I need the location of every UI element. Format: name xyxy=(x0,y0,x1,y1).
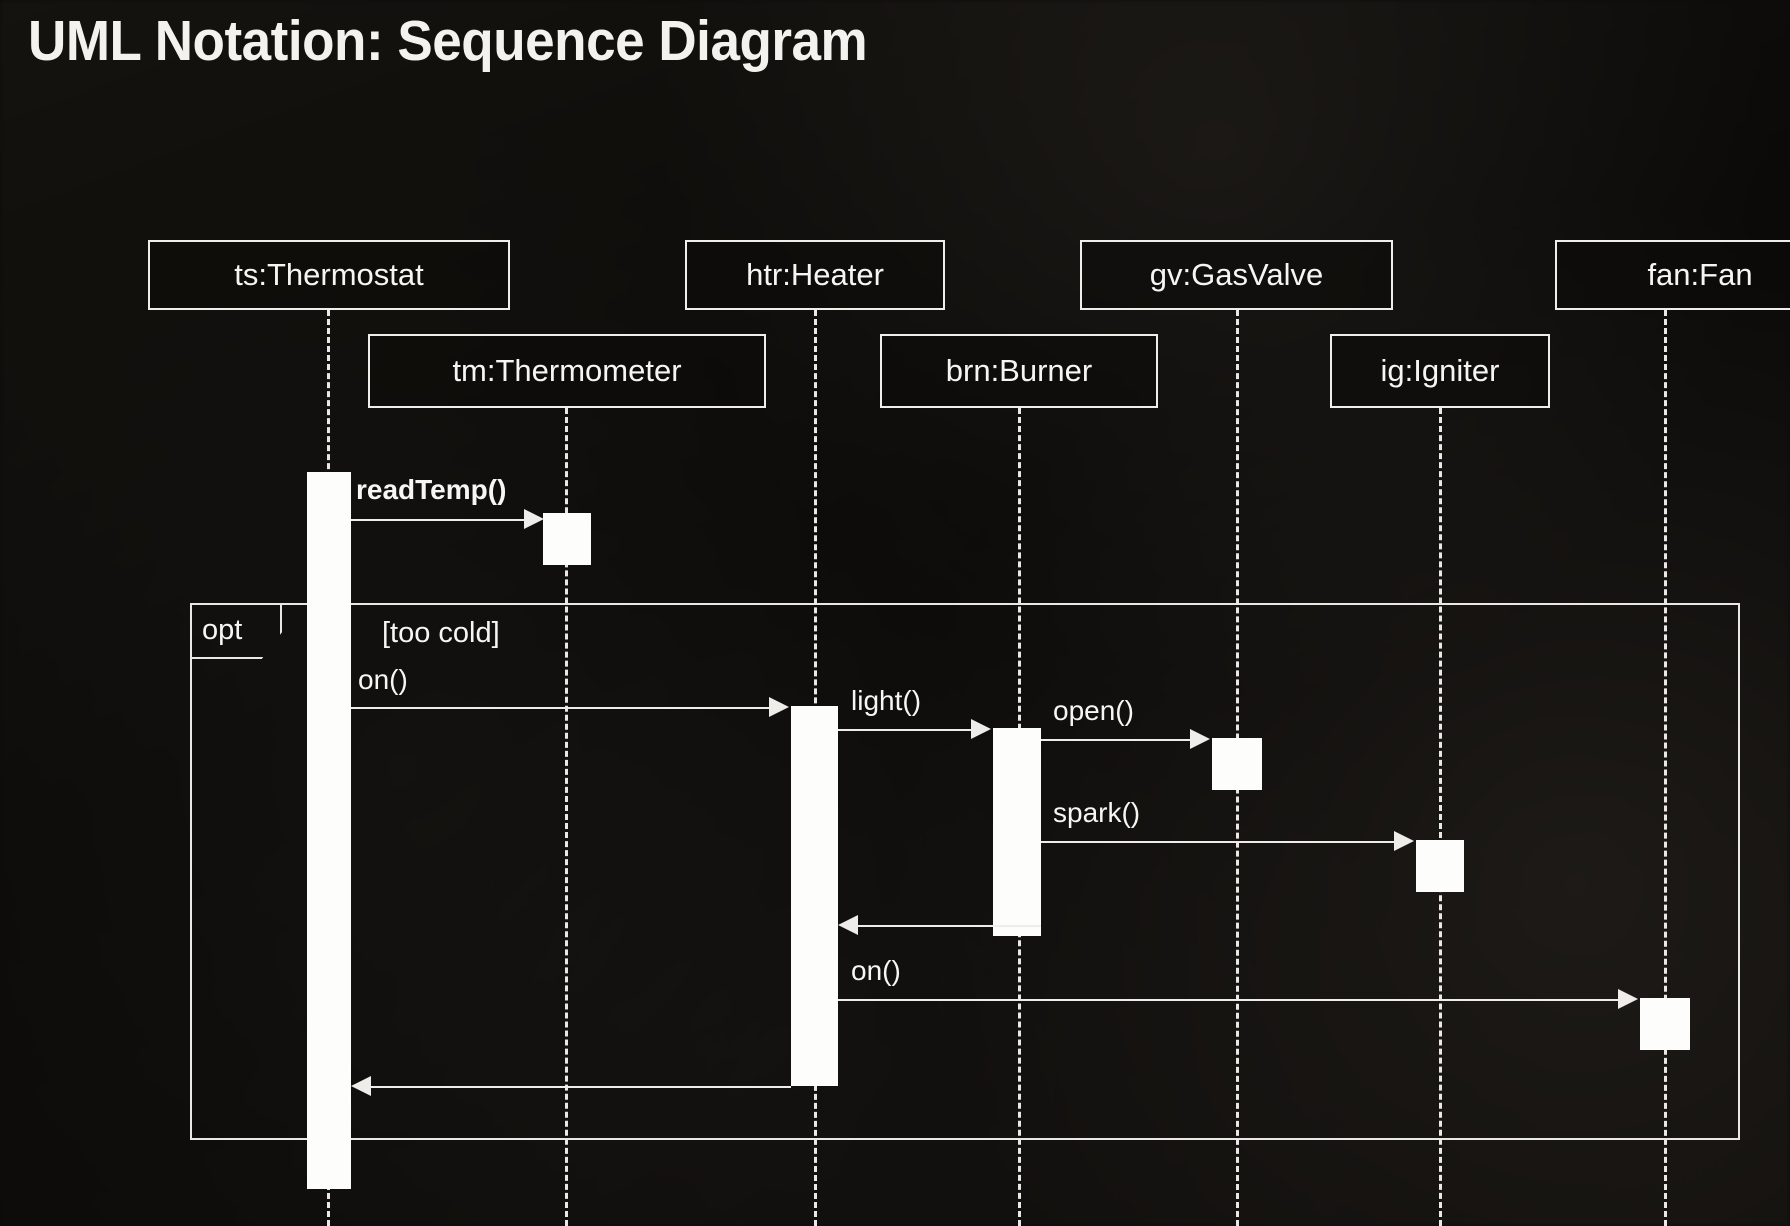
activation-bar-fan-fan xyxy=(1640,998,1690,1050)
message-label-on-fan: on() xyxy=(851,955,901,987)
arrowhead-right-icon xyxy=(971,719,991,739)
message-label-readtemp: readTemp() xyxy=(356,474,506,506)
message-arrow-on-heater xyxy=(351,707,771,709)
arrowhead-right-icon xyxy=(769,697,789,717)
participant-label: ig:Igniter xyxy=(1381,353,1500,389)
message-arrow-readtemp xyxy=(351,519,526,521)
participant-label: tm:Thermometer xyxy=(452,353,681,389)
message-label-on-heater: on() xyxy=(358,664,408,696)
fragment-operator-label: opt xyxy=(202,614,242,647)
participant-box-htr-heater[interactable]: htr:Heater xyxy=(685,240,945,310)
message-arrow-spark xyxy=(1041,841,1396,843)
participant-box-gv-gasvalve[interactable]: gv:GasValve xyxy=(1080,240,1393,310)
message-label-spark: spark() xyxy=(1053,797,1140,829)
slide-canvas: UML Notation: Sequence Diagram ts:Thermo… xyxy=(0,0,1790,1226)
participant-label: ts:Thermostat xyxy=(234,257,424,293)
activation-bar-gv-gasvalve xyxy=(1212,738,1262,790)
arrowhead-right-icon xyxy=(524,509,544,529)
participant-box-ts-thermostat[interactable]: ts:Thermostat xyxy=(148,240,510,310)
activation-bar-brn-burner xyxy=(993,728,1041,936)
arrowhead-right-icon xyxy=(1618,989,1638,1009)
message-label-open: open() xyxy=(1053,695,1134,727)
arrowhead-right-icon xyxy=(1190,729,1210,749)
participant-label: htr:Heater xyxy=(746,257,884,293)
message-arrow-light xyxy=(838,729,973,731)
message-label-light: light() xyxy=(851,685,921,717)
participant-box-ig-igniter[interactable]: ig:Igniter xyxy=(1330,334,1550,408)
arrowhead-left-icon xyxy=(838,915,858,935)
participant-box-brn-burner[interactable]: brn:Burner xyxy=(880,334,1158,408)
fragment-guard-condition: [too cold] xyxy=(382,617,500,650)
message-arrow-open xyxy=(1041,739,1192,741)
arrowhead-right-icon xyxy=(1394,831,1414,851)
participant-box-fan-fan[interactable]: fan:Fan xyxy=(1555,240,1790,310)
message-arrow-on-fan xyxy=(838,999,1620,1001)
participant-label: fan:Fan xyxy=(1647,257,1752,293)
page-title: UML Notation: Sequence Diagram xyxy=(28,8,867,74)
message-arrow-return-heater-to-thermostat xyxy=(370,1086,791,1088)
activation-bar-ts-thermostat xyxy=(307,472,351,1189)
activation-bar-tm-thermometer xyxy=(543,513,591,565)
combined-fragment-opt[interactable] xyxy=(190,603,1740,1140)
participant-box-tm-thermometer[interactable]: tm:Thermometer xyxy=(368,334,766,408)
arrowhead-left-icon xyxy=(351,1076,371,1096)
activation-bar-ig-igniter xyxy=(1416,840,1464,892)
participant-label: gv:GasValve xyxy=(1150,257,1323,293)
participant-label: brn:Burner xyxy=(946,353,1092,389)
message-arrow-return-burner-to-heater xyxy=(857,925,1041,927)
activation-bar-htr-heater xyxy=(791,706,838,1086)
